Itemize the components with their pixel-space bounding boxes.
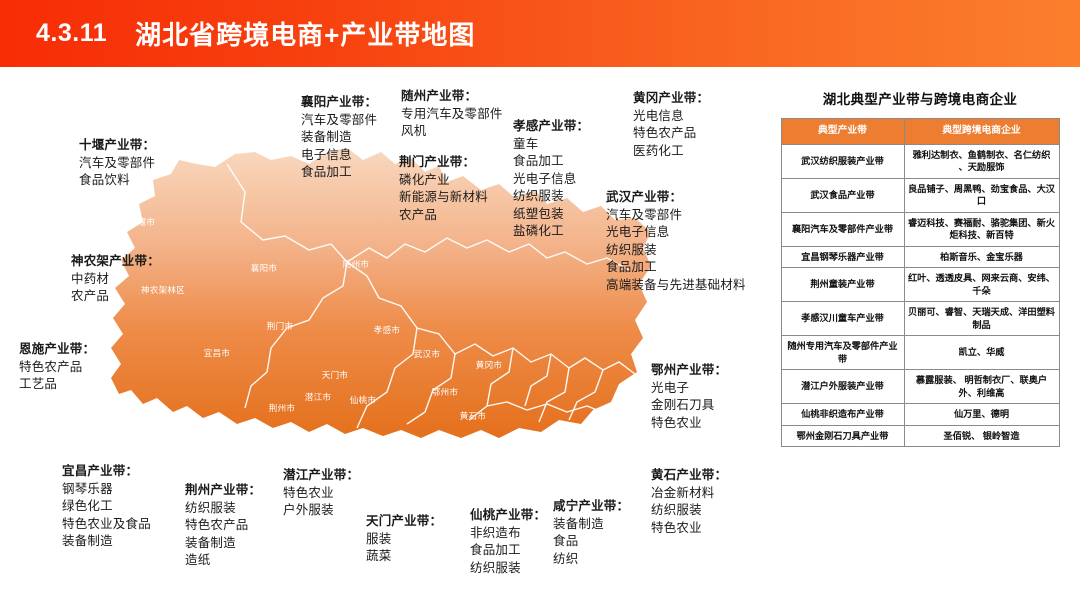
annotation-title: 神农架产业带： <box>71 253 160 271</box>
table-row: 仙桃非织造布产业带 仙万里、德明 <box>781 404 1059 426</box>
annotation-item: 食品饮料 <box>79 172 155 190</box>
annotation-title: 武汉产业带： <box>606 189 746 207</box>
annotation-item: 农产品 <box>71 288 160 306</box>
annotation-yichang: 宜昌产业带： 钢琴乐器 绿色化工 特色农业及食品 装备制造 <box>62 463 151 551</box>
annotation-item: 特色农产品 <box>19 359 95 377</box>
table-row: 武汉纺织服装产业带 雅利达制衣、鱼鹤制衣、名仁纺织 、天励服饰 <box>781 144 1059 178</box>
annotation-item: 汽车及零部件 <box>79 155 155 173</box>
annotation-item: 户外服装 <box>283 502 359 520</box>
annotation-suizhou: 随州产业带： 专用汽车及零部件 风机 <box>401 88 503 141</box>
annotation-item: 服装 <box>366 531 442 549</box>
table-cell-belt: 武汉纺织服装产业带 <box>781 144 904 178</box>
table-header-row: 典型产业带 典型跨境电商企业 <box>781 119 1059 145</box>
annotation-item: 食品加工 <box>606 259 746 277</box>
annotation-item: 纺织服装 <box>513 188 589 206</box>
annotation-xiantao: 仙桃产业带： 非织造布 食品加工 纺织服装 <box>470 507 546 577</box>
annotation-title: 恩施产业带： <box>19 341 95 359</box>
annotation-title: 十堰产业带： <box>79 137 155 155</box>
annotation-title: 黄冈产业带： <box>633 90 709 108</box>
annotation-title: 潜江产业带： <box>283 467 359 485</box>
table-cell-belt: 孝感汉川童车产业带 <box>781 302 904 336</box>
annotation-item: 光电信息 <box>633 108 709 126</box>
annotation-item: 特色农业及食品 <box>62 516 151 534</box>
annotation-item: 特色农业 <box>651 415 727 433</box>
table-cell-enterprise: 柏斯音乐、金宝乐器 <box>904 246 1059 268</box>
table-cell-enterprise: 良品铺子、周黑鸭、劲宝食品、大汉口 <box>904 178 1059 212</box>
table-cell-enterprise: 贝丽可、睿智、天瑞天成、洋田塑料制品 <box>904 302 1059 336</box>
annotation-title: 孝感产业带： <box>513 118 589 136</box>
annotation-item: 光电子信息 <box>606 224 746 242</box>
annotation-item: 盐磷化工 <box>513 223 589 241</box>
annotation-item: 新能源与新材料 <box>399 189 488 207</box>
table-cell-enterprise: 凯立、华威 <box>904 336 1059 370</box>
annotation-item: 特色农产品 <box>185 517 261 535</box>
annotation-title: 黄石产业带： <box>651 467 727 485</box>
table-cell-enterprise: 仙万里、德明 <box>904 404 1059 426</box>
annotation-item: 工艺品 <box>19 376 95 394</box>
table-caption: 湖北典型产业带与跨境电商企业 <box>770 88 1070 108</box>
annotation-huangshi: 黄石产业带： 冶金新材料 纺织服装 特色农业 <box>651 467 727 537</box>
table-cell-belt: 潜江户外服装产业带 <box>781 370 904 404</box>
annotation-item: 光电子 <box>651 380 727 398</box>
annotation-item: 风机 <box>401 123 503 141</box>
annotation-item: 冶金新材料 <box>651 485 727 503</box>
annotation-item: 高端装备与先进基础材料 <box>606 277 746 295</box>
annotation-jingzhou: 荆州产业带： 纺织服装 特色农产品 装备制造 造纸 <box>185 482 261 570</box>
annotation-xiaogan: 孝感产业带： 童车 食品加工 光电子信息 纺织服装 纸塑包装 盐磷化工 <box>513 118 589 241</box>
annotation-title: 仙桃产业带： <box>470 507 546 525</box>
annotation-wuhan: 武汉产业带： 汽车及零部件 光电子信息 纺织服装 食品加工 高端装备与先进基础材… <box>606 189 746 294</box>
annotation-item: 绿色化工 <box>62 498 151 516</box>
table-cell-enterprise: 睿迈科技、赛福耐、骆驼集团、新火炬科技、新百特 <box>904 212 1059 246</box>
table-row: 随州专用汽车及零部件产业带 凯立、华威 <box>781 336 1059 370</box>
annotation-enshi: 恩施产业带： 特色农产品 工艺品 <box>19 341 95 394</box>
annotation-item: 纺织服装 <box>606 242 746 260</box>
annotation-item: 食品 <box>553 533 629 551</box>
table-cell-belt: 武汉食品产业带 <box>781 178 904 212</box>
table-cell-belt: 鄂州金刚石刀具产业带 <box>781 425 904 447</box>
table-cell-enterprise: 红叶、透透皮具、网来云商、安纬、千朵 <box>904 268 1059 302</box>
table-cell-belt: 随州专用汽车及零部件产业带 <box>781 336 904 370</box>
table-cell-enterprise: 慕露服装、 明哲制衣厂、联奥户外、利维高 <box>904 370 1059 404</box>
annotation-item: 中药材 <box>71 271 160 289</box>
table-row: 武汉食品产业带 良品铺子、周黑鸭、劲宝食品、大汉口 <box>781 178 1059 212</box>
annotation-item: 装备制造 <box>301 129 377 147</box>
annotation-item: 造纸 <box>185 552 261 570</box>
annotation-item: 汽车及零部件 <box>606 207 746 225</box>
page-title: 湖北省跨境电商+产业带地图 <box>135 15 475 52</box>
table-row: 潜江户外服装产业带 慕露服装、 明哲制衣厂、联奥户外、利维高 <box>781 370 1059 404</box>
annotation-huanggang: 黄冈产业带： 光电信息 特色农产品 医药化工 <box>633 90 709 160</box>
annotation-item: 纸塑包装 <box>513 206 589 224</box>
annotation-item: 纺织服装 <box>651 502 727 520</box>
table-column-header-belt: 典型产业带 <box>781 119 904 145</box>
annotation-item: 光电子信息 <box>513 171 589 189</box>
annotation-title: 宜昌产业带： <box>62 463 151 481</box>
industry-enterprise-table: 典型产业带 典型跨境电商企业 武汉纺织服装产业带 雅利达制衣、鱼鹤制衣、名仁纺织… <box>781 118 1060 447</box>
table-cell-belt: 襄阳汽车及零部件产业带 <box>781 212 904 246</box>
annotation-title: 襄阳产业带： <box>301 94 377 112</box>
slide-header: 4.3.11 湖北省跨境电商+产业带地图 <box>0 0 1080 67</box>
annotation-title: 随州产业带： <box>401 88 503 106</box>
table-row: 鄂州金刚石刀具产业带 圣佰锐、 银岭智造 <box>781 425 1059 447</box>
annotation-shiyan: 十堰产业带： 汽车及零部件 食品饮料 <box>79 137 155 190</box>
annotation-title: 鄂州产业带： <box>651 362 727 380</box>
annotation-item: 特色农业 <box>651 520 727 538</box>
annotation-ezhou: 鄂州产业带： 光电子 金刚石刀具 特色农业 <box>651 362 727 432</box>
industry-enterprise-table-panel: 湖北典型产业带与跨境电商企业 典型产业带 典型跨境电商企业 武汉纺织服装产业带 … <box>770 88 1070 447</box>
annotation-item: 农产品 <box>399 207 488 225</box>
table-row: 襄阳汽车及零部件产业带 睿迈科技、赛福耐、骆驼集团、新火炬科技、新百特 <box>781 212 1059 246</box>
table-cell-enterprise: 圣佰锐、 银岭智造 <box>904 425 1059 447</box>
annotation-jingmen: 荆门产业带： 磷化产业 新能源与新材料 农产品 <box>399 154 488 224</box>
annotation-item: 蔬菜 <box>366 548 442 566</box>
annotation-qianjiang: 潜江产业带： 特色农业 户外服装 <box>283 467 359 520</box>
annotation-item: 特色农产品 <box>633 125 709 143</box>
annotation-item: 磷化产业 <box>399 172 488 190</box>
annotation-xiangyang: 襄阳产业带： 汽车及零部件 装备制造 电子信息 食品加工 <box>301 94 377 182</box>
annotation-item: 童车 <box>513 136 589 154</box>
annotation-item: 电子信息 <box>301 147 377 165</box>
annotation-item: 钢琴乐器 <box>62 481 151 499</box>
table-cell-belt: 荆州童装产业带 <box>781 268 904 302</box>
annotation-item: 装备制造 <box>62 533 151 551</box>
annotation-item: 非织造布 <box>470 525 546 543</box>
table-row: 孝感汉川童车产业带 贝丽可、睿智、天瑞天成、洋田塑料制品 <box>781 302 1059 336</box>
annotation-item: 特色农业 <box>283 485 359 503</box>
annotation-item: 专用汽车及零部件 <box>401 106 503 124</box>
annotation-title: 荆州产业带： <box>185 482 261 500</box>
table-column-header-enterprise: 典型跨境电商企业 <box>904 119 1059 145</box>
annotation-title: 咸宁产业带： <box>553 498 629 516</box>
annotation-title: 荆门产业带： <box>399 154 488 172</box>
annotation-item: 医药化工 <box>633 143 709 161</box>
annotation-shennongjia: 神农架产业带： 中药材 农产品 <box>71 253 160 306</box>
annotation-item: 食品加工 <box>513 153 589 171</box>
table-cell-belt: 宜昌钢琴乐器产业带 <box>781 246 904 268</box>
annotation-item: 装备制造 <box>553 516 629 534</box>
annotation-item: 纺织 <box>553 551 629 569</box>
annotation-tianmen: 天门产业带： 服装 蔬菜 <box>366 513 442 566</box>
table-cell-belt: 仙桃非织造布产业带 <box>781 404 904 426</box>
annotation-item: 金刚石刀具 <box>651 397 727 415</box>
annotation-item: 食品加工 <box>301 164 377 182</box>
annotation-title: 天门产业带： <box>366 513 442 531</box>
section-number: 4.3.11 <box>36 19 107 48</box>
table-row: 宜昌钢琴乐器产业带 柏斯音乐、金宝乐器 <box>781 246 1059 268</box>
table-row: 荆州童装产业带 红叶、透透皮具、网来云商、安纬、千朵 <box>781 268 1059 302</box>
annotation-item: 食品加工 <box>470 542 546 560</box>
annotation-item: 装备制造 <box>185 535 261 553</box>
annotation-item: 纺织服装 <box>185 500 261 518</box>
annotation-xianning: 咸宁产业带： 装备制造 食品 纺织 <box>553 498 629 568</box>
slide-root: 4.3.11 湖北省跨境电商+产业带地图 <box>0 0 1080 608</box>
annotation-item: 汽车及零部件 <box>301 112 377 130</box>
table-cell-enterprise: 雅利达制衣、鱼鹤制衣、名仁纺织 、天励服饰 <box>904 144 1059 178</box>
annotation-item: 纺织服装 <box>470 560 546 578</box>
